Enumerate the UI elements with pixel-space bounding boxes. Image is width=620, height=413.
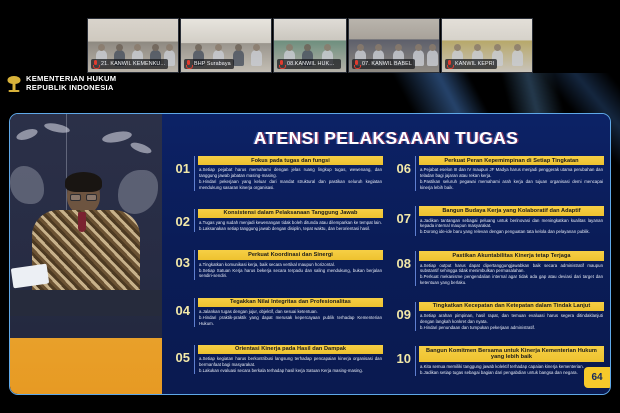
item-point: b.Laksanakan setiap tanggung jawab denga… [199, 226, 382, 232]
participant-thumbnail[interactable]: 08.KANWIL HUKUM B... [273, 18, 347, 73]
list-item: 04 Tegakkan Nilai Integritas dan Profesi… [168, 298, 383, 343]
participant-name: KANWIL KEPRI [455, 61, 494, 67]
item-point: b.Perkuat mekanisme pengendalian interna… [420, 274, 603, 285]
microphone-muted-icon [186, 60, 191, 68]
item-heading: Tingkatkan Kecepatan dan Ketepatan dalam… [419, 302, 604, 311]
item-point: a.Kita semua memiliki tanggung jawab kol… [420, 364, 603, 370]
list-item: 10 Bangun Komitmen Bersama untuk Kinerja… [389, 346, 604, 390]
item-points: a.Setiap arahan pimpinan, hasil rapat, d… [419, 312, 604, 331]
item-number: 05 [168, 345, 190, 364]
item-point: b.Jadikan setiap tugas sebagai bagian da… [420, 370, 603, 376]
item-points: a.Kita semua memiliki tanggung jawab kol… [419, 363, 604, 376]
slide-columns: 01 Fokus pada tugas dan fungsi a.Setiap … [168, 156, 604, 390]
item-number: 03 [168, 250, 190, 269]
item-point: a.Pejabat eselon III dan IV maupun JF Ma… [420, 167, 603, 178]
brand-line-2: REPUBLIK INDONESIA [26, 84, 116, 93]
podium [10, 338, 162, 394]
item-point: a.Jalankan tugas dengan jujur, objektif,… [199, 309, 382, 315]
item-points: a.Setiap kegiatan harus berkontribusi la… [198, 355, 383, 374]
item-number: 04 [168, 298, 190, 317]
right-column: 06 Perkuat Peran Kepemimpinan di Setiap … [389, 156, 604, 390]
video-conference-window: 21. KANWIL KEMENKU... BHP Surabaya [0, 0, 620, 413]
item-points: a.Setiap output harus dapat dipertanggun… [419, 262, 604, 286]
item-point: a.Setiap output harus dapat dipertanggun… [420, 263, 603, 274]
item-point: b.Lakukan evaluasi secara berkala terhad… [199, 368, 382, 374]
item-heading: Konsistensi dalam Pelaksanaan Tanggung J… [198, 209, 383, 218]
item-points: a.Jalankan tugas dengan jujur, objektif,… [198, 308, 383, 327]
glasses-icon [70, 194, 97, 201]
list-item: 09 Tingkatkan Kecepatan dan Ketepatan da… [389, 302, 604, 345]
item-points: a.Jadikan tantangan sebagai peluang untu… [419, 217, 604, 236]
item-point: a.Setiap arahan pimpinan, hasil rapat, d… [420, 313, 603, 324]
item-heading: Perkuat Peran Kepemimpinan di Setiap Tin… [419, 156, 604, 165]
ministry-banyan-tree-logo-icon [6, 75, 21, 92]
item-point: b.Hindari praktik-praktik yang dapat mer… [199, 315, 382, 326]
list-item: 08 Pastikan Akuntabilitas Kinerja tetap … [389, 251, 604, 299]
slide-title: ATENSI PELAKSAAAN TUGAS [162, 128, 610, 149]
item-point: b.Dorong ide-ide baru yang relevan denga… [420, 229, 603, 235]
screen-share-frame: ATENSI PELAKSAAAN TUGAS 01 Fokus pada tu… [9, 113, 611, 395]
item-point: a.Tugas yang sudah menjadi kewenangan ti… [199, 220, 382, 226]
item-heading: Bangun Budaya Kerja yang Kolaboratif dan… [419, 206, 604, 215]
list-item: 02 Konsistensi dalam Pelaksanaan Tanggun… [168, 209, 383, 249]
participant-thumbnail[interactable]: 21. KANWIL KEMENKU... [87, 18, 179, 73]
item-point: a.Setiap pejabat harus memahami dengan j… [199, 167, 382, 178]
item-number: 02 [168, 209, 190, 228]
item-point: a.Tingkatkan komunikasi kerja, baik seca… [199, 262, 382, 268]
participant-label: KANWIL KEPRI [445, 59, 497, 69]
presentation-slide: ATENSI PELAKSAAAN TUGAS 01 Fokus pada tu… [162, 114, 610, 394]
item-number: 06 [389, 156, 411, 175]
participant-thumbnail[interactable]: 07. KANWIL BABEL [348, 18, 440, 73]
participant-name: 21. KANWIL KEMENKU... [101, 61, 165, 67]
item-point: b.Hindari pekerjaan yang keluar dari man… [199, 179, 382, 190]
speaker-hair [65, 172, 102, 192]
participant-thumbnail[interactable]: KANWIL KEPRI [441, 18, 533, 73]
list-item: 05 Orientasi Kinerja pada Hasil dan Damp… [168, 345, 383, 390]
slide-page-number: 64 [584, 367, 610, 388]
list-item: 07 Bangun Budaya Kerja yang Kolaboratif … [389, 206, 604, 249]
list-item: 03 Perkuat Koordinasi dan Sinergi a.Ting… [168, 250, 383, 295]
item-points: a.Tingkatkan komunikasi kerja, baik seca… [198, 261, 383, 280]
item-heading: Orientasi Kinerja pada Hasil dan Dampak [198, 345, 383, 354]
participant-name: 07. KANWIL BABEL [362, 61, 412, 67]
item-heading: Perkuat Koordinasi dan Sinergi [198, 250, 383, 259]
microphone-muted-icon [354, 60, 359, 68]
microphone-muted-icon [447, 60, 452, 68]
item-number: 09 [389, 302, 411, 321]
item-point: a.Jadikan tantangan sebagai peluang untu… [420, 218, 603, 229]
participant-label: 08.KANWIL HUKUM B... [277, 59, 341, 69]
item-point: a.Setiap kegiatan harus berkontribusi la… [199, 356, 382, 367]
item-number: 01 [168, 156, 190, 175]
microphone-muted-icon [279, 60, 284, 68]
desk-surface [10, 290, 162, 316]
list-item: 06 Perkuat Peran Kepemimpinan di Setiap … [389, 156, 604, 204]
left-column: 01 Fokus pada tugas dan fungsi a.Setiap … [168, 156, 383, 390]
item-points: a.Pejabat eselon III dan IV maupun JF Ma… [419, 166, 604, 190]
item-heading: Tegakkan Nilai Integritas dan Profesiona… [198, 298, 383, 307]
participant-label: 21. KANWIL KEMENKU... [91, 59, 168, 69]
participant-label: 07. KANWIL BABEL [352, 59, 415, 69]
participant-name: 08.KANWIL HUKUM B... [287, 61, 338, 67]
participant-thumbnail[interactable]: BHP Surabaya [180, 18, 272, 73]
item-heading: Pastikan Akuntabilitas Kinerja tetap Ter… [419, 251, 604, 260]
list-item: 01 Fokus pada tugas dan fungsi a.Setiap … [168, 156, 383, 207]
item-number: 10 [389, 346, 411, 365]
speaker-tie [78, 212, 86, 232]
participant-label: BHP Surabaya [184, 59, 234, 69]
item-points: a.Tugas yang sudah menjadi kewenangan ti… [198, 219, 383, 232]
item-heading: Bangun Komitmen Bersama untuk Kinerja Ke… [419, 346, 604, 362]
item-point: b.Setiap Satuan Kerja harus bekerja seca… [199, 268, 382, 279]
item-number: 07 [389, 206, 411, 225]
item-point: b.Pastikan seluruh pegawai memahami arah… [420, 179, 603, 190]
item-number: 08 [389, 251, 411, 270]
active-speaker-video[interactable] [10, 114, 162, 394]
item-points: a.Setiap pejabat harus memahami dengan j… [198, 166, 383, 190]
participant-filmstrip: 21. KANWIL KEMENKU... BHP Surabaya [0, 18, 620, 73]
participant-name: BHP Surabaya [194, 61, 231, 67]
microphone-muted-icon [93, 60, 98, 68]
item-point: b.Hindari penundaan dan tumpukan pekerja… [420, 325, 603, 331]
item-heading: Fokus pada tugas dan fungsi [198, 156, 383, 165]
ministry-branding: KEMENTERIAN HUKUM REPUBLIK INDONESIA [6, 75, 116, 92]
